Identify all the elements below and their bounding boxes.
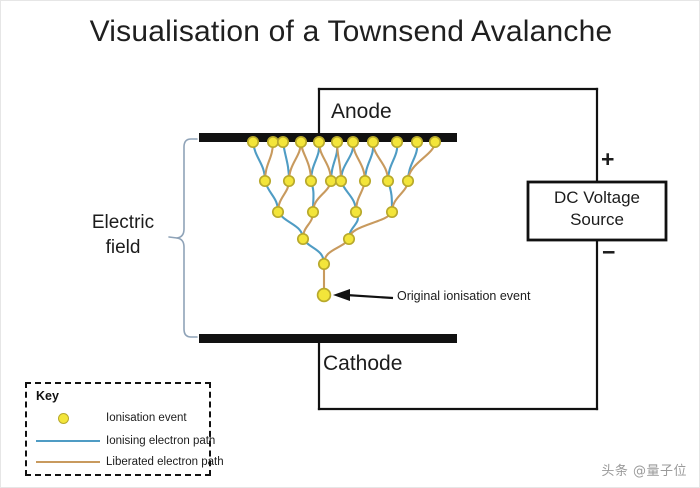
- ionisation-node: [284, 176, 294, 186]
- dc-voltage-source-label: DC Voltage Source: [528, 187, 666, 231]
- legend-key-box: Key Ionisation event Ionising electron p…: [25, 382, 211, 476]
- ionisation-node: [392, 137, 402, 147]
- ionisation-node: [412, 137, 422, 147]
- electric-field-label: Electric field: [75, 210, 171, 260]
- ionisation-node: [360, 176, 370, 186]
- ionisation-node: [326, 176, 336, 186]
- ionising-electron-paths: [253, 142, 417, 264]
- liberated-electron-paths: [265, 142, 435, 295]
- ionisation-node: [314, 137, 324, 147]
- ionisation-node: [368, 137, 378, 147]
- ionisation-node: [403, 176, 413, 186]
- original-ionisation-event-label: Original ionisation event: [397, 289, 530, 303]
- ionisation-node: [351, 207, 361, 217]
- ionisation-node: [336, 176, 346, 186]
- electric-field-bracket: [169, 139, 197, 337]
- ionisation-node: [383, 176, 393, 186]
- ionisation-node: [268, 137, 278, 147]
- ionisation-node: [387, 207, 397, 217]
- legend-label: Ionisation event: [100, 412, 187, 424]
- anode-label: Anode: [331, 100, 392, 124]
- ionisation-node: [319, 259, 329, 269]
- legend-item-ionising-path: Ionising electron path: [36, 431, 206, 450]
- ionisation-event-nodes: [248, 137, 440, 302]
- legend-swatch-dot: [36, 410, 100, 426]
- negative-terminal-label: −: [602, 239, 615, 266]
- ionisation-node: [306, 176, 316, 186]
- original-ionisation-node: [318, 289, 331, 302]
- diagram-canvas: Visualisation of a Townsend Avalanche: [0, 0, 700, 488]
- ionisation-node: [332, 137, 342, 147]
- ionisation-node: [260, 176, 270, 186]
- ionisation-node: [296, 137, 306, 147]
- ionisation-node: [348, 137, 358, 147]
- ionisation-node: [344, 234, 354, 244]
- ionisation-node: [248, 137, 258, 147]
- legend-item-liberated-path: Liberated electron path: [36, 452, 206, 471]
- original-event-arrow: [333, 289, 393, 301]
- positive-terminal-label: +: [601, 146, 614, 173]
- legend-label: Liberated electron path: [100, 456, 224, 468]
- legend-swatch-line-blue: [36, 433, 100, 449]
- ionisation-node: [278, 137, 288, 147]
- legend-swatch-line-tan: [36, 454, 100, 470]
- legend-label: Ionising electron path: [100, 435, 215, 447]
- ionisation-node: [298, 234, 308, 244]
- watermark: 头条 @量子位: [601, 460, 687, 479]
- cathode-label: Cathode: [323, 352, 402, 376]
- ionisation-node: [273, 207, 283, 217]
- ionising-path-icon: [36, 440, 100, 442]
- ionisation-node: [308, 207, 318, 217]
- cathode-electrode: [199, 334, 457, 343]
- ionisation-event-icon: [58, 413, 69, 424]
- legend-item-ionisation-event: Ionisation event: [36, 408, 206, 427]
- ionisation-node: [430, 137, 440, 147]
- liberated-path-icon: [36, 461, 100, 463]
- legend-title: Key: [36, 389, 59, 403]
